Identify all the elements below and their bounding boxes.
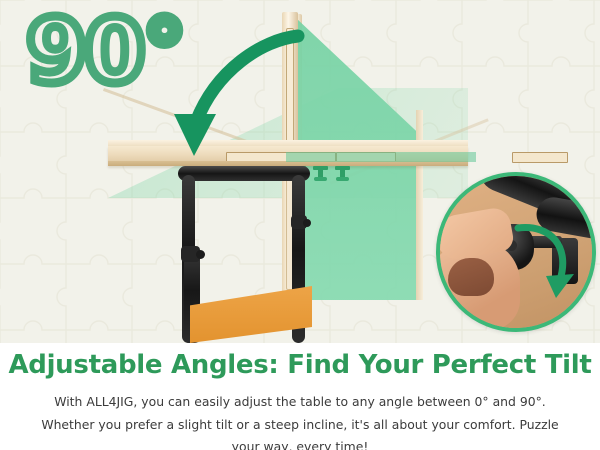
board-right-edge — [416, 110, 423, 300]
hero-photo: 90° — [0, 0, 600, 343]
curved-down-arrow-icon — [150, 18, 340, 168]
detail-inset-circle — [436, 172, 596, 332]
caption-block: Adjustable Angles: Find Your Perfect Til… — [0, 343, 600, 450]
inset-knuckle — [448, 258, 494, 296]
clamp-knob-2 — [313, 166, 328, 183]
body-copy: With ALL4JIG, you can easily adjust the … — [40, 391, 560, 450]
adjust-knob-left-icon — [196, 250, 205, 259]
clamp-knob-3 — [335, 166, 350, 183]
stand-crossbar — [178, 166, 310, 181]
adjust-knob-right-icon — [303, 219, 311, 227]
page-title: Adjustable Angles: Find Your Perfect Til… — [0, 350, 600, 380]
rail-groove-right — [512, 152, 568, 163]
product-feature-banner: 90° Adjustable Angles: Find Your Perfect… — [0, 0, 600, 450]
circular-rotate-arrow-icon — [508, 218, 580, 306]
